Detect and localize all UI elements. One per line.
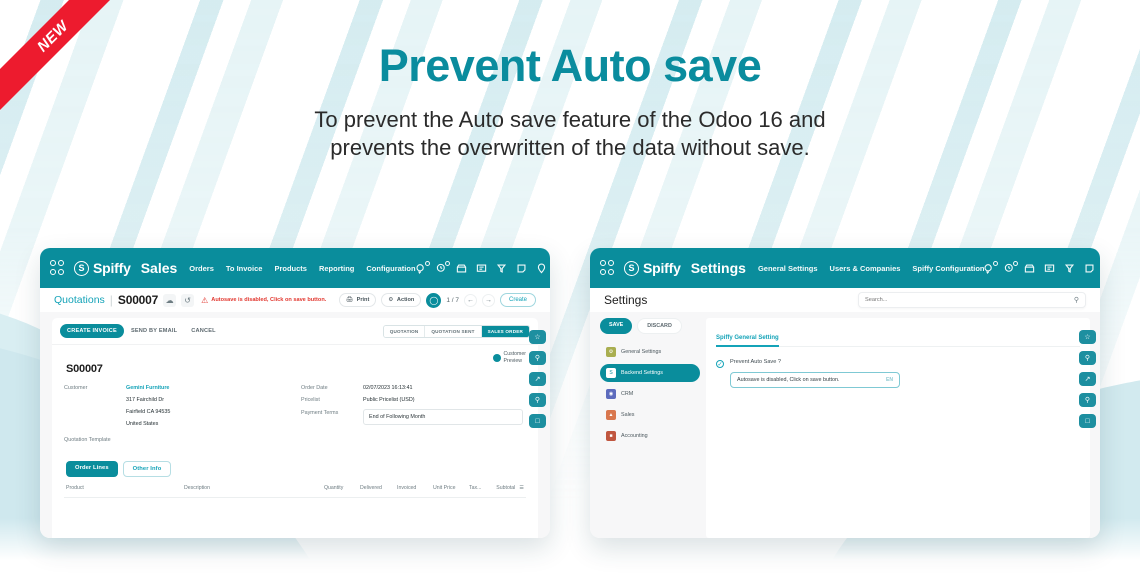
sidebar-item-accounting[interactable]: ■ Accounting <box>600 427 700 445</box>
tab-other-info[interactable]: Other Info <box>123 461 172 477</box>
left-side-toolbar: ☆ ⚲ ↗ ⚲ □ <box>529 330 546 428</box>
th-unit-price: Unit Price <box>433 485 469 491</box>
check-circle-icon[interactable]: ✓ <box>716 360 724 368</box>
form-columns: Customer Gemini Furniture 317 Fairchild … <box>64 384 526 447</box>
messages-icon[interactable] <box>416 263 427 274</box>
nav-item-products[interactable]: Products <box>274 264 307 273</box>
chevron-left-icon[interactable]: ← <box>464 294 477 307</box>
send-by-email-button[interactable]: SEND BY EMAIL <box>124 324 184 338</box>
activities-badge <box>1013 261 1018 266</box>
right-navbar: S Spiffy Settings General Settings Users… <box>590 248 1100 288</box>
autosave-warning-text: Autosave is disabled, Click on save butt… <box>211 297 326 303</box>
sheet-tabs: Order Lines Other Info <box>66 461 526 477</box>
crm-app-icon: ◉ <box>606 389 616 399</box>
nav-item-spiffy-configuration[interactable]: Spiffy Configuration <box>912 264 984 273</box>
field-payment-terms-label: Payment Terms <box>301 409 363 416</box>
field-pricelist-label: Pricelist <box>301 396 363 403</box>
tab-order-lines[interactable]: Order Lines <box>66 461 118 477</box>
save-button[interactable]: SAVE <box>600 318 632 334</box>
activities-badge <box>445 261 450 266</box>
location-icon[interactable] <box>536 263 547 274</box>
breadcrumb: Quotations | S00007 ☁ ↺ <box>54 293 194 307</box>
subtitle-line-1: To prevent the Auto save feature of the … <box>0 106 1140 135</box>
zoom-search-icon[interactable]: ⚲ <box>529 393 546 407</box>
order-lines-table-header: Product Description Quantity Delivered I… <box>64 485 526 498</box>
field-customer-value[interactable]: Gemini Furniture <box>126 384 169 392</box>
messages-badge <box>425 261 430 266</box>
action-label: Action <box>397 297 414 303</box>
field-pricelist: Pricelist Public Pricelist (USD) <box>301 396 526 404</box>
discard-button[interactable]: DISCARD <box>637 318 682 334</box>
th-subtotal: Subtotal <box>496 485 515 491</box>
field-address-country-value: United States <box>126 420 158 428</box>
nav-item-configuration[interactable]: Configuration <box>366 264 415 273</box>
record-sheet: Customer Preview S00007 Customer Gemini … <box>52 344 538 538</box>
record-title: S00007 <box>66 363 526 375</box>
th-product: Product <box>66 485 184 491</box>
left-nav-menu: Orders To Invoice Products Reporting Con… <box>189 264 415 273</box>
spiffy-logo-icon: S <box>74 261 89 276</box>
status-pipeline: QUOTATION QUOTATION SENT SALES ORDER <box>383 325 530 338</box>
brand-name: Spiffy <box>643 260 681 276</box>
gear-circle-icon[interactable]: ◯ <box>426 293 441 308</box>
field-address-city-value: Fairfield CA 94535 <box>126 408 170 416</box>
settings-header: Settings ⚲ <box>590 288 1100 312</box>
th-description: Description <box>184 485 324 491</box>
field-pricelist-value: Public Pricelist (USD) <box>363 396 415 404</box>
field-address-street: 317 Fairchild Dr <box>64 396 289 404</box>
sidebar-item-accounting-label: Accounting <box>621 433 648 439</box>
action-button[interactable]: ⚙ Action <box>381 293 421 307</box>
print-button[interactable]: 🖨 Print <box>339 293 376 307</box>
customer-preview-icon <box>493 354 501 362</box>
shop-icon[interactable] <box>456 263 467 274</box>
nav-item-users-companies[interactable]: Users & Companies <box>830 264 901 273</box>
bookmark-icon[interactable]: □ <box>529 414 546 428</box>
right-nav-right-icons <box>984 260 1100 277</box>
field-customer-label: Customer <box>64 384 126 391</box>
field-address-street-label <box>64 396 126 397</box>
page-subtitle: To prevent the Auto save feature of the … <box>0 106 1140 163</box>
settings-search-box[interactable]: ⚲ <box>858 292 1086 308</box>
zoom-search-icon[interactable]: ⚲ <box>1079 393 1096 407</box>
gear-app-icon: ⚙ <box>606 347 616 357</box>
status-bar: CREATE INVOICE SEND BY EMAIL CANCEL QUOT… <box>52 318 538 344</box>
settings-body: SAVE DISCARD ⚙ General Settings S Backen… <box>590 312 1100 538</box>
sales-app-icon: ▲ <box>606 410 616 420</box>
column-options-icon[interactable]: ☰ <box>519 485 524 491</box>
apps-grid-icon[interactable] <box>600 260 614 276</box>
warning-triangle-icon: ⚠ <box>201 296 208 305</box>
accounting-app-icon: ■ <box>606 431 616 441</box>
left-sheet-wrap: CREATE INVOICE SEND BY EMAIL CANCEL QUOT… <box>40 312 550 538</box>
note-icon[interactable] <box>1084 263 1095 274</box>
right-side-toolbar: ☆ ⚲ ↗ ⚲ □ <box>1079 330 1096 428</box>
customer-preview-line-1: Customer <box>504 351 527 357</box>
promo-banner-page: NEW Prevent Auto save To prevent the Aut… <box>0 0 1140 578</box>
field-address-street-value: 317 Fairchild Dr <box>126 396 164 404</box>
subtitle-line-2: prevents the overwritten of the data wit… <box>0 134 1140 163</box>
search-icon[interactable]: ⚲ <box>1074 296 1079 304</box>
th-delivered: Delivered <box>360 485 397 491</box>
nav-item-orders[interactable]: Orders <box>189 264 214 273</box>
tab-spiffy-general-setting[interactable]: Spiffy General Setting <box>716 335 779 347</box>
prevent-auto-save-block: Prevent Auto Save ? Autosave is disabled… <box>730 359 900 388</box>
customer-preview-button[interactable]: Customer Preview <box>493 351 527 364</box>
field-order-date-value: 02/07/2023 16:13:41 <box>363 384 412 392</box>
left-nav-right-icons <box>416 260 550 277</box>
sidebar-item-general-settings-label: General Settings <box>621 349 661 355</box>
new-ribbon: NEW <box>0 0 120 120</box>
status-quotation[interactable]: QUOTATION <box>384 326 426 337</box>
activities-icon[interactable] <box>1004 263 1015 274</box>
breadcrumb-separator: | <box>110 293 113 307</box>
field-address-city-label <box>64 408 126 409</box>
nav-item-reporting[interactable]: Reporting <box>319 264 354 273</box>
left-screenshot-card: S Spiffy Sales Orders To Invoice Product… <box>40 248 550 538</box>
app-name-label: Settings <box>691 260 746 276</box>
settings-sidebar: SAVE DISCARD ⚙ General Settings S Backen… <box>600 318 700 538</box>
page-title: Prevent Auto save <box>0 40 1140 92</box>
th-invoiced: Invoiced <box>397 485 433 491</box>
megaphone-icon[interactable] <box>496 263 507 274</box>
customer-preview-line-2: Preview <box>504 358 522 364</box>
prevent-auto-save-setting: ✓ Prevent Auto Save ? Autosave is disabl… <box>716 359 1080 388</box>
pager-counter: 1 / 7 <box>446 297 459 304</box>
settings-panel: Spiffy General Setting ✓ Prevent Auto Sa… <box>706 318 1090 538</box>
status-sales-order[interactable]: SALES ORDER <box>482 326 529 337</box>
field-customer: Customer Gemini Furniture <box>64 384 289 392</box>
new-ribbon-label: NEW <box>0 0 120 114</box>
activities-icon[interactable] <box>436 263 447 274</box>
headline-block: Prevent Auto save To prevent the Auto sa… <box>0 40 1140 163</box>
sidebar-item-general-settings[interactable]: ⚙ General Settings <box>600 343 700 361</box>
field-order-date: Order Date 02/07/2023 16:13:41 <box>301 384 526 392</box>
status-quotation-sent[interactable]: QUOTATION SENT <box>425 326 481 337</box>
settings-panel-tabs: Spiffy General Setting <box>716 326 1080 347</box>
expand-icon[interactable]: ↗ <box>1079 372 1096 386</box>
settings-action-buttons: SAVE DISCARD <box>600 318 700 334</box>
breadcrumb-current: S00007 <box>118 293 158 307</box>
field-address-country-label <box>64 420 126 421</box>
field-quotation-template: Quotation Template <box>64 436 289 443</box>
field-order-date-label: Order Date <box>301 384 363 391</box>
language-badge[interactable]: EN <box>886 377 893 383</box>
field-payment-terms: Payment Terms End of Following Month <box>301 409 526 425</box>
nav-item-to-invoice[interactable]: To Invoice <box>226 264 263 273</box>
form-column-left: Customer Gemini Furniture 317 Fairchild … <box>64 384 289 447</box>
expand-icon[interactable]: ↗ <box>529 372 546 386</box>
megaphone-icon[interactable] <box>1064 263 1075 274</box>
form-column-right: Order Date 02/07/2023 16:13:41 Pricelist… <box>301 384 526 447</box>
sidebar-item-crm-label: CRM <box>621 391 633 397</box>
sidebar-item-sales[interactable]: ▲ Sales <box>600 406 700 424</box>
field-quotation-template-label: Quotation Template <box>64 436 111 443</box>
cancel-button[interactable]: CANCEL <box>184 324 223 338</box>
settings-title: Settings <box>604 293 647 307</box>
print-label: Print <box>357 297 370 303</box>
right-nav-menu: General Settings Users & Companies Spiff… <box>758 264 985 273</box>
presentation-icon[interactable] <box>476 263 487 274</box>
sidebar-item-crm[interactable]: ◉ CRM <box>600 385 700 403</box>
prevent-auto-save-label: Prevent Auto Save ? <box>730 359 900 365</box>
star-icon[interactable]: ☆ <box>1079 330 1096 344</box>
note-icon[interactable] <box>516 263 527 274</box>
autosave-warning: ⚠ Autosave is disabled, Click on save bu… <box>201 296 326 305</box>
brand-logo[interactable]: S Spiffy <box>74 260 131 276</box>
apps-grid-icon[interactable] <box>50 260 64 276</box>
spiffy-app-icon: S <box>606 368 616 378</box>
sidebar-item-backend-settings-label: Backend Settings <box>621 370 663 376</box>
sidebar-item-backend-settings[interactable]: S Backend Settings <box>600 364 700 382</box>
chevron-right-icon[interactable]: → <box>482 294 495 307</box>
shop-icon[interactable] <box>1024 263 1035 274</box>
presentation-icon[interactable] <box>1044 263 1055 274</box>
bookmark-icon[interactable]: □ <box>1079 414 1096 428</box>
field-address-country: United States <box>64 420 289 428</box>
autosave-message-input[interactable]: Autosave is disabled, Click on save butt… <box>730 372 900 388</box>
left-control-bar: Quotations | S00007 ☁ ↺ ⚠ Autosave is di… <box>40 288 550 312</box>
field-address-city: Fairfield CA 94535 <box>64 408 289 416</box>
th-quantity: Quantity <box>324 485 360 491</box>
create-button[interactable]: Create <box>500 293 536 307</box>
breadcrumb-parent[interactable]: Quotations <box>54 294 105 306</box>
messages-badge <box>993 261 998 266</box>
search-icon[interactable]: ⚲ <box>1079 351 1096 365</box>
payment-terms-input[interactable]: End of Following Month <box>363 409 523 425</box>
messages-icon[interactable] <box>984 263 995 274</box>
spiffy-logo-icon: S <box>624 261 639 276</box>
search-input[interactable] <box>865 297 1074 303</box>
right-screenshot-card: S Spiffy Settings General Settings Users… <box>590 248 1100 538</box>
th-tax: Tax... <box>469 485 495 491</box>
app-name-label: Sales <box>141 260 178 276</box>
sidebar-item-sales-label: Sales <box>621 412 635 418</box>
brand-name: Spiffy <box>93 260 131 276</box>
search-icon[interactable]: ⚲ <box>529 351 546 365</box>
brand-logo[interactable]: S Spiffy <box>624 260 681 276</box>
left-navbar: S Spiffy Sales Orders To Invoice Product… <box>40 248 550 288</box>
nav-item-general-settings[interactable]: General Settings <box>758 264 818 273</box>
autosave-message-value: Autosave is disabled, Click on save butt… <box>737 377 886 383</box>
create-invoice-button[interactable]: CREATE INVOICE <box>60 324 124 338</box>
star-icon[interactable]: ☆ <box>529 330 546 344</box>
customer-preview-label: Customer Preview <box>504 351 527 364</box>
save-cloud-icon[interactable]: ☁ <box>163 294 176 307</box>
left-control-actions: 🖨 Print ⚙ Action ◯ 1 / 7 ← → Create <box>339 293 536 308</box>
discard-undo-icon[interactable]: ↺ <box>181 294 194 307</box>
